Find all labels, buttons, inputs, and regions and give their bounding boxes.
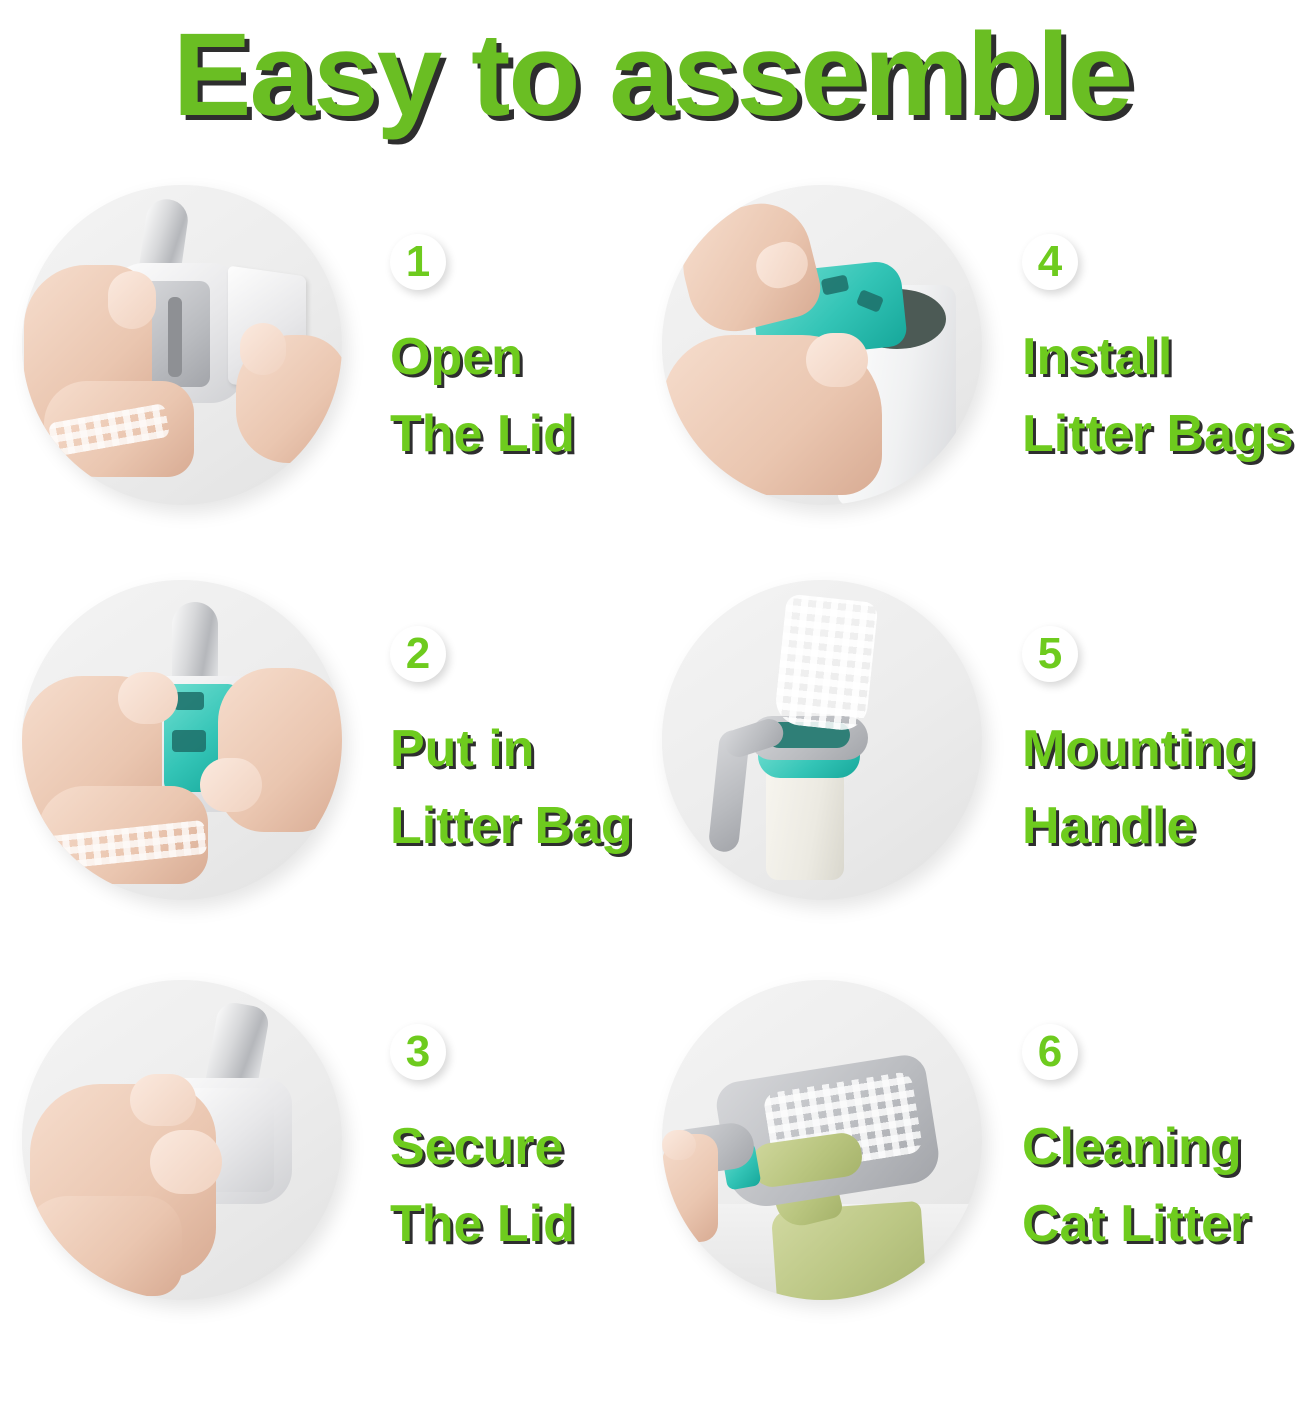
step-photo-3 [22,980,342,1300]
step-caption-3: 3 Secure The Lid [342,1024,652,1257]
step-item-6: 6 Cleaning Cat Litter [652,940,1304,1340]
step-number-badge-1: 1 [390,234,446,290]
step-photo-1 [22,185,342,505]
step-caption-6: 6 Cleaning Cat Litter [982,1024,1304,1257]
step-label-2-line2: Litter Bag [390,795,644,858]
step-photo-5 [662,580,982,900]
step-label-2-line1: Put in [390,718,644,781]
step-item-3: 3 Secure The Lid [0,940,652,1340]
step-label-5-line1: Mounting [1022,718,1296,781]
step-number-badge-6: 6 [1022,1024,1078,1080]
step-caption-1: 1 Open The Lid [342,224,652,467]
step-label-1-line2: The Lid [390,403,644,466]
step-number-badge-4: 4 [1022,234,1078,290]
step-item-4: 4 Install Litter Bags [652,150,1304,540]
page-title: Easy to assemble [173,16,1131,134]
step-label-6-line2: Cat Litter [1022,1193,1296,1256]
step-number-badge-5: 5 [1022,626,1078,682]
step-number-badge-2: 2 [390,626,446,682]
step-label-3-line2: The Lid [390,1193,644,1256]
step-label-6-line1: Cleaning [1022,1116,1296,1179]
step-photo-6 [662,980,982,1300]
step-label-5-line2: Handle [1022,795,1296,858]
step-number-badge-3: 3 [390,1024,446,1080]
step-label-4-line1: Install [1022,326,1296,389]
step-photo-4 [662,185,982,505]
step-caption-4: 4 Install Litter Bags [982,224,1304,467]
step-caption-2: 2 Put in Litter Bag [342,622,652,859]
page-header: Easy to assemble [0,0,1304,150]
step-label-1-line1: Open [390,326,644,389]
step-label-3-line1: Secure [390,1116,644,1179]
step-caption-5: 5 Mounting Handle [982,622,1304,859]
step-label-4-line2: Litter Bags [1022,403,1296,466]
step-photo-2 [22,580,342,900]
step-item-1: 1 Open The Lid [0,150,652,540]
assembly-steps-grid: 1 Open The Lid 4 Install Litter Bag [0,150,1304,1340]
step-item-5: 5 Mounting Handle [652,540,1304,940]
step-item-2: 2 Put in Litter Bag [0,540,652,940]
